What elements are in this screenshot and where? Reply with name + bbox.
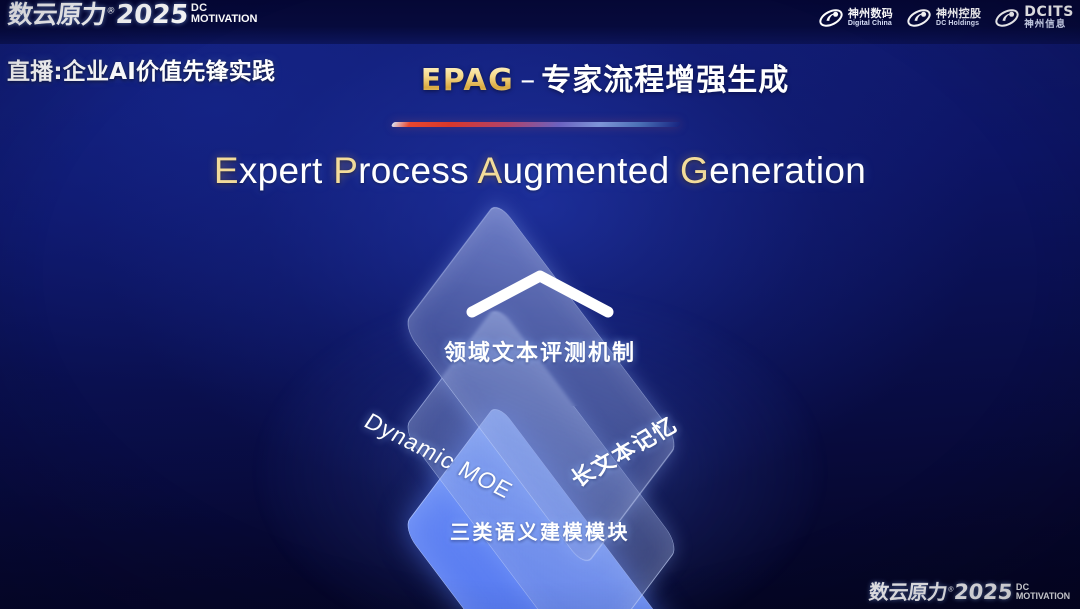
- swirl-icon: [906, 7, 932, 29]
- subtitle-rest-generation: eneration: [709, 150, 866, 191]
- title-chinese: 专家流程增强生成: [541, 63, 789, 98]
- brand-name-cn: 数云原力®: [7, 2, 116, 27]
- brand-motivation-text: MOTIVATION: [1016, 592, 1070, 601]
- swirl-icon: [818, 7, 844, 29]
- title-acronym: EPAG: [421, 63, 515, 98]
- subtitle-cap-e: E: [214, 150, 239, 191]
- subtitle-rest-process: rocess: [358, 150, 477, 191]
- subtitle-cap-a: A: [478, 150, 503, 191]
- partner-label-group: 神州控股 DC Holdings: [936, 8, 981, 27]
- chevron-up-icon: [462, 266, 618, 322]
- partner-label-group: DCITS 神州信息: [1024, 5, 1074, 30]
- title-divider: [391, 122, 682, 127]
- layered-architecture-diagram: 领域文本评测机制 Dynamic MOE 长文本记忆 三类语义建模模块: [0, 222, 1080, 592]
- partner-logo-digital-china: 神州数码 Digital China: [818, 7, 893, 29]
- brand-year: 2025: [953, 582, 1014, 603]
- partner-name-cn: 神州控股: [936, 8, 981, 20]
- partner-label-group: 神州数码 Digital China: [848, 8, 893, 27]
- slide-root: 数云原力® 2025 DC MOTIVATION 直播:企业AI价值先锋实践 神…: [0, 0, 1080, 609]
- partner-logo-group: 神州数码 Digital China 神州控股 DC Holdings: [818, 5, 1074, 30]
- partner-logo-dc-holdings: 神州控股 DC Holdings: [906, 7, 981, 29]
- slide-subtitle: Expert Process Augmented Generation: [0, 150, 1080, 192]
- swirl-icon: [994, 7, 1020, 29]
- brand-dc-motivation: DC MOTIVATION: [191, 3, 257, 25]
- subtitle-cap-g: G: [680, 150, 709, 191]
- partner-name-cn: 神州数码: [848, 8, 893, 20]
- registered-mark: ®: [106, 7, 116, 17]
- brand-dc-motivation: DC MOTIVATION: [1016, 583, 1070, 601]
- brand-year: 2025: [114, 2, 189, 28]
- live-stream-headline: 直播:企业AI价值先锋实践: [7, 52, 275, 86]
- brand-logo-bottom-right: 数云原力® 2025 DC MOTIVATION: [869, 582, 1070, 603]
- title-dash: –: [520, 63, 535, 98]
- partner-logo-dcits: DCITS 神州信息: [994, 5, 1074, 30]
- partner-name-en-primary: DCITS: [1024, 5, 1074, 20]
- subtitle-rest-augmented: ugmented: [502, 150, 680, 191]
- brand-logo-top-left: 数云原力® 2025 DC MOTIVATION: [8, 2, 257, 28]
- partner-name-en: Digital China: [848, 20, 893, 28]
- subtitle-rest-expert: xpert: [239, 150, 333, 191]
- partner-name-cn-secondary: 神州信息: [1024, 20, 1074, 30]
- diagram-label-top: 领域文本评测机制: [0, 335, 1080, 367]
- subtitle-cap-p: P: [333, 150, 358, 191]
- diagram-label-bottom: 三类语义建模模块: [0, 516, 1080, 545]
- brand-name-cn: 数云原力®: [868, 582, 955, 602]
- partner-name-en: DC Holdings: [936, 20, 981, 28]
- brand-motivation-text: MOTIVATION: [191, 14, 257, 25]
